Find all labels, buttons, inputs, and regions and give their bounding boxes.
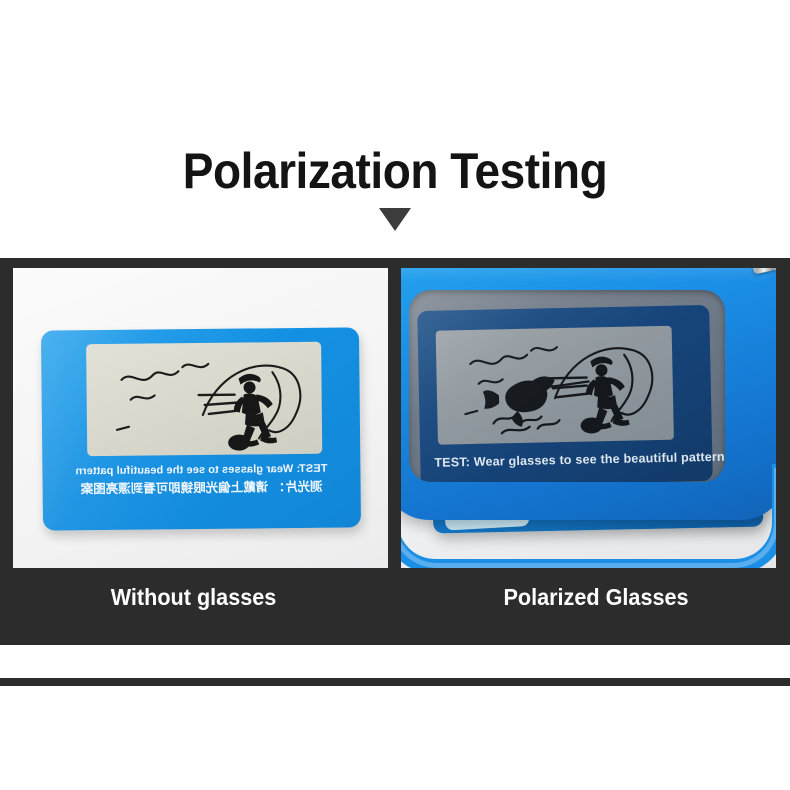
test-card-plain: TEST: Wear glasses to see the beautiful …	[41, 327, 361, 530]
white-gap	[0, 645, 790, 678]
pattern-window-plain	[86, 342, 322, 456]
photo-polarized-glasses: TEST: Wear glasses to see the beautiful …	[401, 268, 776, 568]
title-block: Polarization Testing	[0, 142, 790, 231]
triangle-down-icon	[379, 208, 411, 231]
caption-without-glasses: Without glasses	[12, 580, 376, 640]
fisherman-line-art-partial	[86, 342, 322, 456]
panel-without-glasses: TEST: Wear glasses to see the beautiful …	[13, 268, 388, 568]
card-text-cn: 测光片： 请戴上偏光眼镜即可看到漂亮图案	[43, 476, 361, 498]
comparison-panels: TEST: Wear glasses to see the beautiful …	[13, 268, 777, 568]
polarized-lens: TEST: Wear glasses to see the beautiful …	[409, 290, 725, 482]
card-seen-through-lens: TEST: Wear glasses to see the beautiful …	[417, 305, 713, 482]
fisherman-line-art-full	[436, 326, 674, 445]
panel-captions: Without glasses Polarized Glasses	[0, 580, 790, 640]
frame-bottom-shine	[401, 468, 776, 568]
polarization-testing-page: Polarization Testing	[0, 0, 790, 790]
panel-polarized-glasses: TEST: Wear glasses to see the beautiful …	[401, 268, 776, 568]
pattern-window-lens	[436, 326, 674, 445]
caption-polarized-glasses: Polarized Glasses	[399, 580, 778, 640]
fish-figure	[483, 376, 556, 427]
footer-area	[0, 686, 790, 790]
page-title: Polarization Testing	[32, 142, 759, 200]
divider-bar	[0, 678, 790, 686]
comparison-section: TEST: Wear glasses to see the beautiful …	[0, 258, 790, 645]
photo-without-glasses: TEST: Wear glasses to see the beautiful …	[13, 268, 388, 568]
card-text-plain: TEST: Wear glasses to see the beautiful …	[42, 460, 360, 498]
frame-highlight	[401, 268, 776, 282]
